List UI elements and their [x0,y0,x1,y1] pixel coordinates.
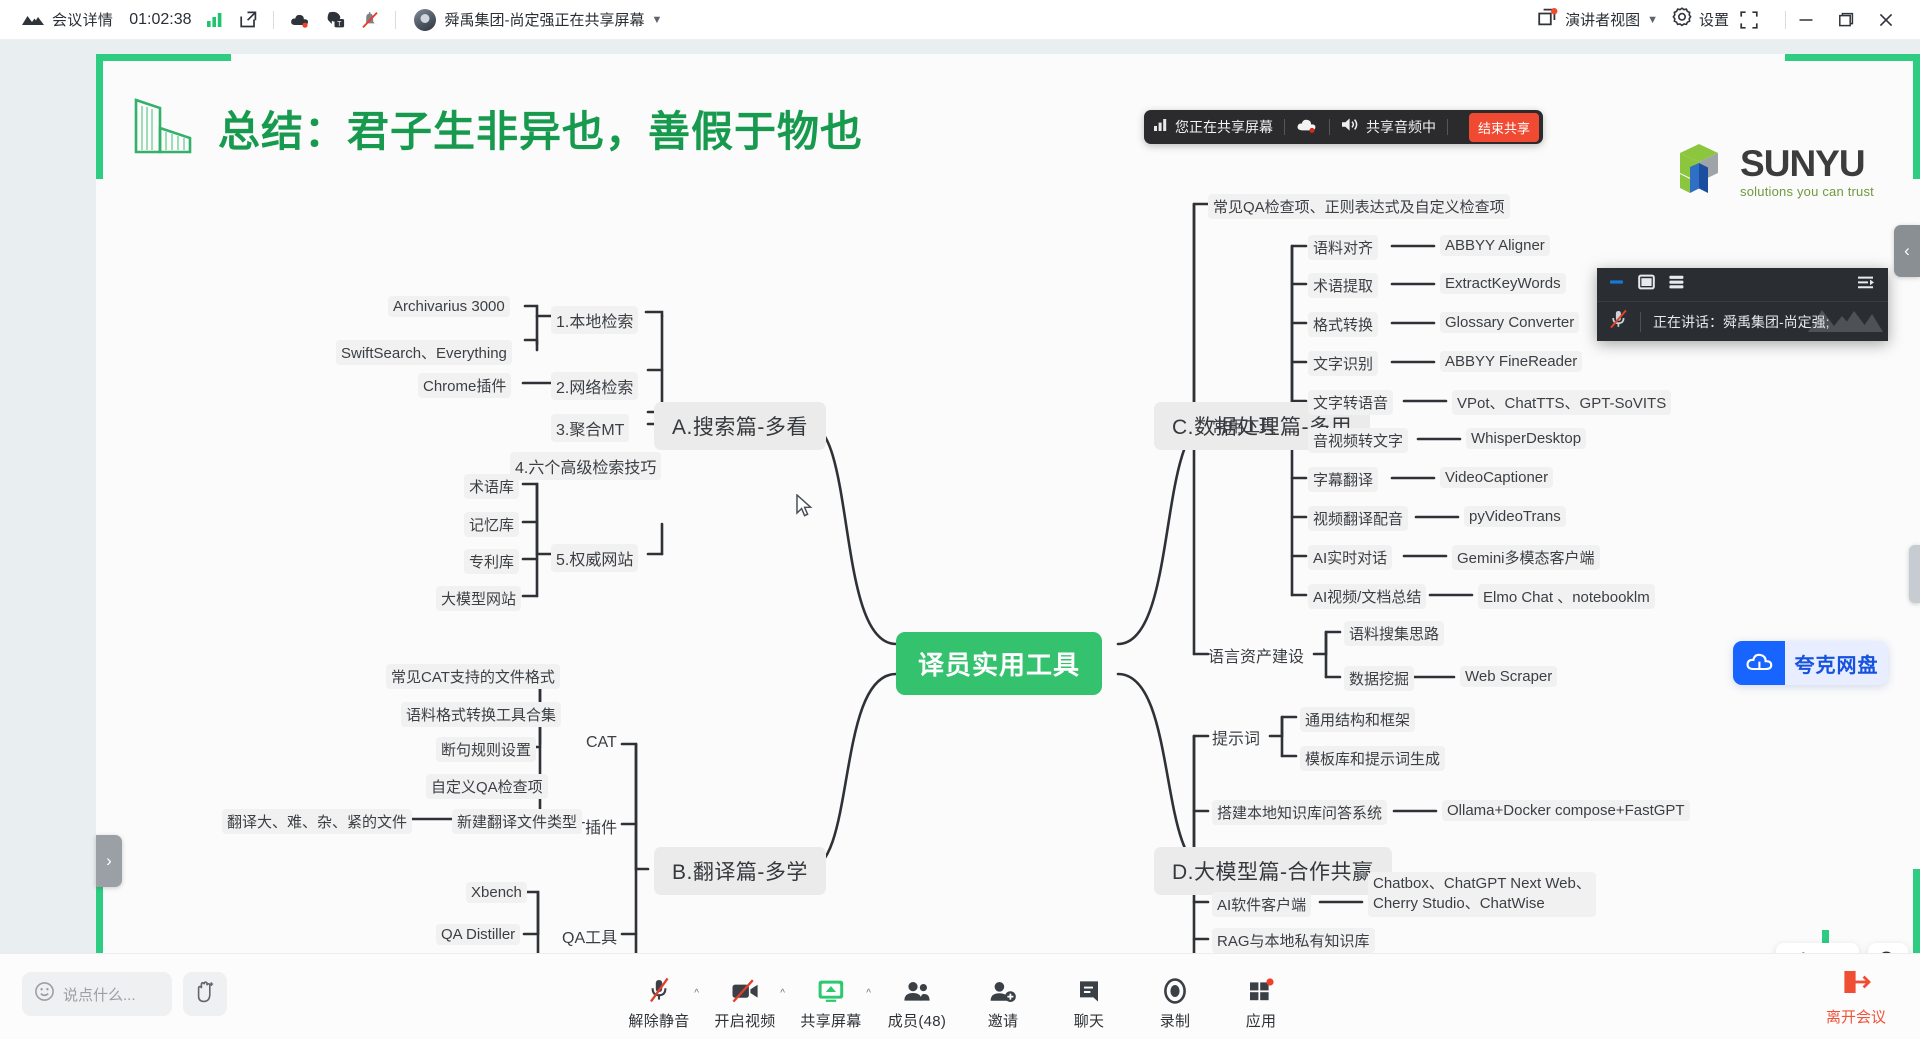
meeting-details-label[interactable]: 会议详情 [52,9,113,30]
speaker-floating-panel[interactable]: 正在讲话：舜禹集团-尚定强; [1597,268,1888,341]
speaker-icon [1341,117,1359,137]
mindmap-leaf-hard-files[interactable]: 翻译大、难、杂、紧的文件 [222,809,412,834]
zoom-in-button[interactable] [1868,943,1908,953]
mindmap-leaf-av-to-text[interactable]: 音视频转文字 [1308,428,1408,453]
meeting-timer: 01:02:38 [129,11,191,29]
mindmap-node-c-qa-items[interactable]: 常见QA检查项、正则表达式及自定义检查项 [1208,194,1510,219]
title-bar: 会议详情 01:02:38 T 舜禹集团-尚定强正在共享屏幕 ▼ 演讲者视图 [0,0,1920,40]
mindmap-node-d-ai-clients[interactable]: AI软件客户端 [1212,892,1311,917]
chevron-down-icon[interactable]: ▼ [651,14,662,26]
mindmap-node-a-4[interactable]: 4.六个高级检索技巧 [510,452,661,480]
mindmap-tool-tts-list[interactable]: VPot、ChatTTS、GPT-SoVITS [1452,390,1671,415]
mindmap-root-node[interactable]: 译员实用工具 [896,632,1102,695]
mountains-logo-icon [20,9,46,31]
mindmap-node-a-1[interactable]: 1.本地检索 [551,306,638,334]
mindmap-node-a-2[interactable]: 2.网络检索 [551,372,638,400]
close-icon[interactable] [1866,5,1906,35]
mindmap-leaf-format-convert[interactable]: 格式转换 [1308,312,1378,337]
raise-hand-icon [193,980,217,1009]
mindmap-node-d-rag[interactable]: RAG与本地私有知识库 [1212,928,1375,953]
expand-panel-icon[interactable] [1857,275,1876,295]
maximize-icon[interactable] [1826,5,1866,35]
chevron-up-icon[interactable]: ^ [780,988,785,999]
mindmap-leaf-ocr[interactable]: 文字识别 [1308,351,1378,376]
speaker-panel-body: 正在讲话：舜禹集团-尚定强; [1597,302,1888,341]
screen-share-status-pill: 您正在共享屏幕 共享音频中 结束共享 [1144,110,1543,144]
share-screen-control[interactable]: 共享屏幕 ^ [788,964,874,1031]
quark-cloud-icon [1733,641,1785,685]
raise-hand-button[interactable] [183,972,227,1016]
mindmap-leaf-corpus-collect[interactable]: 语料搜集思路 [1344,621,1444,646]
leave-meeting-label: 离开会议 [1826,1006,1886,1027]
divider [1329,119,1330,135]
mindmap-leaf-termbase[interactable]: 术语库 [464,474,519,499]
mouse-cursor-icon [795,494,813,523]
mindmap-node-d-local-kb[interactable]: 搭建本地知识库问答系统 [1212,800,1387,825]
unmute-control[interactable]: 解除静音 ^ [616,964,702,1031]
signal-bars-icon [1154,118,1168,136]
collapse-right-panel-button[interactable]: ‹ [1894,225,1920,277]
expand-left-panel-button[interactable]: › [96,835,122,887]
quark-netdisk-label: 夸克网盘 [1785,649,1888,678]
mindmap-leaf-qa-distiller[interactable]: QA Distiller [436,924,520,945]
mindmap-leaf-xbench[interactable]: Xbench [466,882,527,903]
mindmap-node-a-5[interactable]: 5.权威网站 [551,544,638,572]
end-share-button[interactable]: 结束共享 [1469,113,1539,142]
mindmap-leaf-archivarius[interactable]: Archivarius 3000 [388,296,510,317]
window-icon[interactable] [1638,274,1655,295]
mindmap-node-c-lang-assets[interactable]: 语言资产建设 [1208,643,1304,667]
mindmap-tool-gemini-client[interactable]: Gemini多模态客户端 [1452,545,1600,570]
divider [1640,312,1641,332]
mindmap-branch-a[interactable]: A.搜索篇-多看 [654,402,826,450]
mindmap-node-b-qa-tools[interactable]: QA工具 [562,924,617,948]
title-bar-left-group: 会议详情 01:02:38 T 舜禹集团-尚定强正在共享屏幕 ▼ [0,9,662,31]
apps-grid-icon [1247,964,1275,1004]
shared-slide: 总结：君子生非异也，善假于物也 SUNYU solutions you can … [96,54,1920,953]
meeting-bottom-bar: 说点什么... 解除静音 ^ 开启视频 ^ 共享屏幕 ^ [0,953,1920,1039]
record-label: 录制 [1160,1010,1191,1031]
mindmap-leaf-prompt-structure[interactable]: 通用结构和框架 [1300,707,1415,732]
invite-control[interactable]: 邀请 [960,964,1046,1031]
share-screen-label: 共享屏幕 [800,1010,861,1031]
apps-control[interactable]: 应用 [1218,964,1304,1031]
signal-bars-icon[interactable] [207,12,224,27]
mindmap-tool-abbyy-finereader[interactable]: ABBYY FineReader [1440,351,1582,372]
smiley-icon [34,981,55,1007]
divider [273,11,274,29]
participants-label: 成员(48) [888,1010,946,1031]
mindmap-node-d-prompt[interactable]: 提示词 [1212,725,1260,749]
mindmap-leaf-memory[interactable]: 记忆库 [464,512,519,537]
divider [1447,119,1448,135]
leave-meeting-icon [1841,968,1871,1001]
shared-screen-stage: 总结：君子生非异也，善假于物也 SUNYU solutions you can … [0,40,1920,953]
mindmap-leaf-subtitle-translate[interactable]: 字幕翻译 [1308,467,1378,492]
popout-window-icon[interactable] [240,11,257,28]
participants-control[interactable]: 成员(48) [874,964,960,1031]
say-something-input[interactable]: 说点什么... [22,972,172,1016]
participants-icon [902,964,932,1004]
mindmap-leaf-new-file-type[interactable]: 新建翻译文件类型 [452,809,582,834]
gear-icon [1672,7,1692,32]
quark-netdisk-button[interactable]: 夸克网盘 [1733,641,1888,685]
mindmap-node-b-cat[interactable]: CAT [586,734,617,752]
minimize-icon[interactable] [1609,275,1625,294]
mindmap-leaf-ai-summary[interactable]: AI视频/文档总结 [1308,584,1426,609]
mindmap-leaf-corpus-convert[interactable]: 语料格式转换工具合集 [401,702,561,727]
mindmap-branch-d[interactable]: D.大模型篇-合作共赢 [1154,847,1392,895]
mindmap-leaf-custom-qa[interactable]: 自定义QA检查项 [426,774,548,799]
mindmap-tool-pyvideotrans[interactable]: pyVideoTrans [1464,506,1566,527]
mindmap-tool-elmo-notebooklm[interactable]: Elmo Chat 、notebooklm [1478,584,1655,609]
settings-button[interactable]: 设置 [1672,7,1729,32]
cloud-record-icon[interactable] [290,12,310,28]
mindmap-tool-ollama-stack[interactable]: Ollama+Docker compose+FastGPT [1442,800,1690,821]
say-something-placeholder: 说点什么... [63,984,136,1005]
annotate-button[interactable]: 批注 [1776,943,1859,953]
divider [1284,119,1285,135]
mindmap-leaf-video-dub[interactable]: 视频翻译配音 [1308,506,1408,531]
chat-control[interactable]: 聊天 [1046,964,1132,1031]
mindmap-tool-abbyy-aligner[interactable]: ABBYY Aligner [1440,235,1550,256]
meeting-controls: 解除静音 ^ 开启视频 ^ 共享屏幕 ^ 成员(48) [616,964,1304,1031]
sharing-status-label: 舜禹集团-尚定强正在共享屏幕 [444,9,644,30]
invite-person-icon [989,964,1017,1004]
svg-text:T: T [338,21,343,28]
chat-label: 聊天 [1074,1010,1105,1031]
speaker-view-label: 演讲者视图 [1565,9,1640,30]
invite-label: 邀请 [988,1010,1019,1031]
mic-muted-icon [646,964,672,1004]
settings-label: 设置 [1699,9,1729,30]
mindmap-tool-whisperdesktop[interactable]: WhisperDesktop [1466,428,1586,449]
fullscreen-icon[interactable] [1729,5,1769,35]
chevron-up-icon[interactable]: ^ [694,988,699,999]
speaker-panel-toolbar [1597,268,1888,302]
chevron-right-icon: › [106,851,112,871]
audio-share-status-label: 共享音频中 [1366,117,1436,137]
share-status-label: 您正在共享屏幕 [1175,117,1273,137]
speaking-now-label: 正在讲话：舜禹集团-尚定强; [1653,312,1830,332]
apps-label: 应用 [1246,1010,1277,1031]
minimize-icon[interactable] [1786,5,1826,35]
mountains-watermark-icon [1806,302,1884,339]
side-drawer-handle[interactable] [1909,545,1920,603]
mindmap-leaf-segmentation[interactable]: 断句规则设置 [436,737,536,762]
notification-muted-icon[interactable] [361,11,379,29]
mind-map: 译员实用工具 A.搜索篇-多看 B.翻译篇-多学 C.数据处理篇-多用 D.大模… [96,54,1920,953]
mindmap-leaf-data-mining[interactable]: 数据挖掘 [1344,666,1414,691]
cloud-record-icon[interactable] [1296,117,1318,138]
record-control[interactable]: 录制 [1132,964,1218,1031]
share-screen-icon [817,964,845,1004]
mindmap-tool-extractkeywords[interactable]: ExtractKeyWords [1440,273,1566,294]
unmute-label: 解除静音 [628,1010,689,1031]
mindmap-leaf-term-extract[interactable]: 术语提取 [1308,273,1378,298]
mic-muted-icon[interactable] [1609,309,1628,334]
record-circle-icon [1162,964,1188,1004]
chevron-down-icon: ▼ [1647,14,1658,26]
leave-meeting-button[interactable]: 离开会议 [1826,968,1886,1027]
mindmap-leaf-llm-sites[interactable]: 大模型网站 [436,586,521,611]
mindmap-tool-glossary-converter[interactable]: Glossary Converter [1440,312,1579,333]
mindmap-node-c-common-tools[interactable]: 常用工具 [1212,413,1276,437]
chevron-up-icon[interactable]: ^ [866,988,871,999]
mindmap-tool-web-scraper[interactable]: Web Scraper [1460,666,1557,687]
mindmap-leaf-chrome-plugin[interactable]: Chrome插件 [418,373,511,398]
divider [395,11,396,29]
mindmap-leaf-prompt-templates[interactable]: 模板库和提示词生成 [1300,746,1445,771]
camera-off-icon [730,964,760,1004]
subtitle-translate-icon[interactable]: T [326,11,345,28]
mindmap-leaf-corpus-align[interactable]: 语料对齐 [1308,235,1378,260]
layout-switch-icon [1538,8,1558,32]
avatar [414,9,436,31]
mindmap-leaf-ai-realtime[interactable]: AI实时对话 [1308,545,1392,570]
list-view-icon[interactable] [1668,274,1685,295]
mindmap-node-a-3[interactable]: 3.聚合MT [551,414,629,442]
mindmap-tool-ai-client-list[interactable]: Chatbox、ChatGPT Next Web、 Cherry Studio、… [1368,872,1596,917]
chevron-left-icon: ‹ [1904,241,1910,261]
mindmap-leaf-swiftsearch[interactable]: SwiftSearch、Everything [336,340,512,365]
start-video-label: 开启视频 [714,1010,775,1031]
mindmap-leaf-patent[interactable]: 专利库 [464,549,519,574]
mindmap-leaf-tts[interactable]: 文字转语音 [1308,390,1393,415]
chat-bubble-icon [1077,964,1101,1004]
mindmap-branch-b[interactable]: B.翻译篇-多学 [654,847,826,895]
speaker-view-button[interactable]: 演讲者视图 ▼ [1538,8,1658,32]
mindmap-leaf-cat-formats[interactable]: 常见CAT支持的文件格式 [386,664,560,689]
start-video-control[interactable]: 开启视频 ^ [702,964,788,1031]
title-bar-right-group: 演讲者视图 ▼ 设置 [1524,5,1920,35]
mindmap-tool-videocaptioner[interactable]: VideoCaptioner [1440,467,1553,488]
